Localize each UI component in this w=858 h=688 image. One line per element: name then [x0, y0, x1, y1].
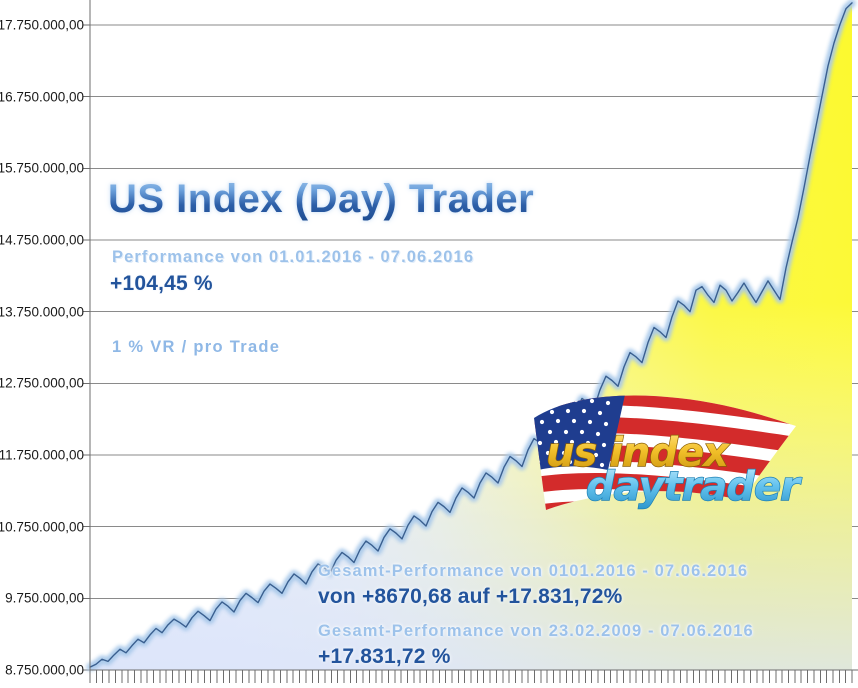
total-performance-period-label-1: Gesamt-Performance von 0101.2016 - 07.06…	[318, 562, 748, 581]
page-title: US Index (Day) Trader	[108, 177, 534, 222]
total-performance-value-2: +17.831,72 %	[318, 645, 451, 669]
performance-period-label: Performance von 01.01.2016 - 07.06.2016	[112, 248, 474, 267]
y-axis-tick-label: 11.750.000,00	[0, 448, 84, 463]
performance-value: +104,45 %	[110, 272, 213, 296]
y-axis-tick-label: 15.750.000,00	[0, 161, 84, 176]
y-axis-tick-label: 14.750.000,00	[0, 233, 84, 248]
y-axis-tick-label: 8.750.000,00	[0, 663, 84, 678]
x-axis-ticks	[90, 670, 852, 683]
y-axis-tick-label: 12.750.000,00	[0, 376, 84, 391]
total-performance-value-1: von +8670,68 auf +17.831,72%	[318, 585, 622, 609]
total-performance-period-label-2: Gesamt-Performance von 23.02.2009 - 07.0…	[318, 622, 754, 641]
y-axis-tick-label: 17.750.000,00	[0, 18, 84, 33]
risk-per-trade-label: 1 % VR / pro Trade	[112, 338, 280, 357]
y-axis-tick-label: 10.750.000,00	[0, 519, 84, 534]
chart-root: 8.750.000,009.750.000,0010.750.000,0011.…	[0, 0, 858, 688]
y-axis-tick-label: 16.750.000,00	[0, 89, 84, 104]
y-axis-tick-label: 13.750.000,00	[0, 304, 84, 319]
y-axis-tick-label: 9.750.000,00	[0, 591, 84, 606]
